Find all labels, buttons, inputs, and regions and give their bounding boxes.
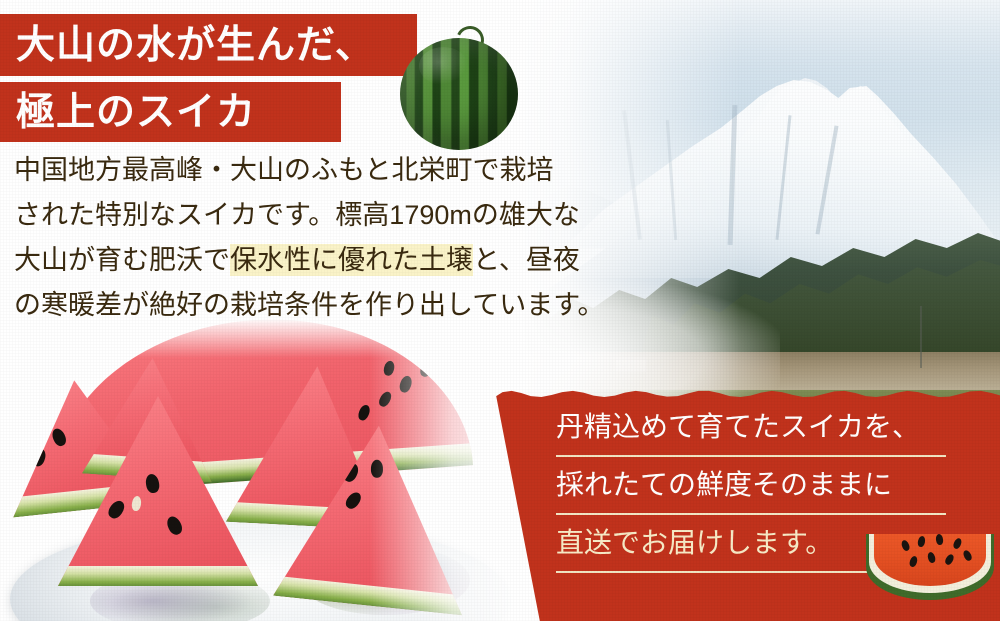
body-line-3: 大山が育む肥沃で保水性に優れた土壌と、昼夜 [14,238,694,283]
watermelon-seed [952,537,963,550]
title-banner-line2: 極上のスイカ [0,82,341,142]
body-highlight-text: 保水性に優れた土壌 [230,244,473,276]
watermelon-seed [398,374,414,394]
body-line-1: 中国地方最高峰・大山のふもと北栄町で栽培 [14,148,694,193]
cut-watermelon-slices-photo [0,318,520,621]
watermelon-seed [377,390,394,409]
promo-line-1-text: 丹精込めて育てたスイカを、 [556,411,920,442]
watermelon-seed [944,553,956,566]
promo-line-2: 採れたての鮮度そのままに [556,466,946,515]
watermelon-seed [404,341,422,360]
watermelon-seed [935,534,943,545]
title-text-line1: 大山の水が生んだ、 [16,26,375,65]
body-paragraph: 中国地方最高峰・大山のふもと北栄町で栽培 された特別なスイカです。標高1790m… [14,148,694,328]
promo-line-3-text: 直送でお届けします。 [556,527,833,558]
watermelon-seed [371,460,383,478]
promo-line-1: 丹精込めて育てたスイカを、 [556,408,946,457]
watermelon-seed [962,549,973,562]
body-line-4: の寒暖差が絶好の栽培条件を作り出しています。 [14,283,694,328]
watermelon-seed [357,403,372,422]
body-line-3-post: と、昼夜 [473,245,580,275]
watermelon-seed [382,360,395,377]
promo-panel: 丹精込めて育てたスイカを、 採れたての鮮度そのままに 直送でお届けします。 [468,386,1000,621]
watermelon-seed [900,539,911,552]
utility-pole [920,306,922,368]
whole-watermelon-icon [400,26,518,144]
watermelon-rind [58,566,258,586]
promo-poster: 大山の水が生んだ、 極上のスイカ 中国地方最高峰・大山のふもと北栄町で栽培 され… [0,0,1000,621]
watermelon-seed [927,551,937,564]
slice-green-rind [866,534,994,600]
promo-line-2-text: 採れたての鮮度そのままに [556,469,892,500]
body-line-2: された特別なスイカです。標高1790mの雄大な [14,193,694,238]
watermelon-seed [418,359,435,379]
watermelon-seed [917,535,926,547]
watermelon-body [400,38,518,150]
title-text-line2: 極上のスイカ [16,93,256,132]
title-banner-line1: 大山の水が生んだ、 [0,14,417,76]
watermelon-seed [908,555,918,568]
body-line-3-pre: 大山が育む肥沃で [14,245,230,275]
watermelon-slice-icon [866,534,994,600]
